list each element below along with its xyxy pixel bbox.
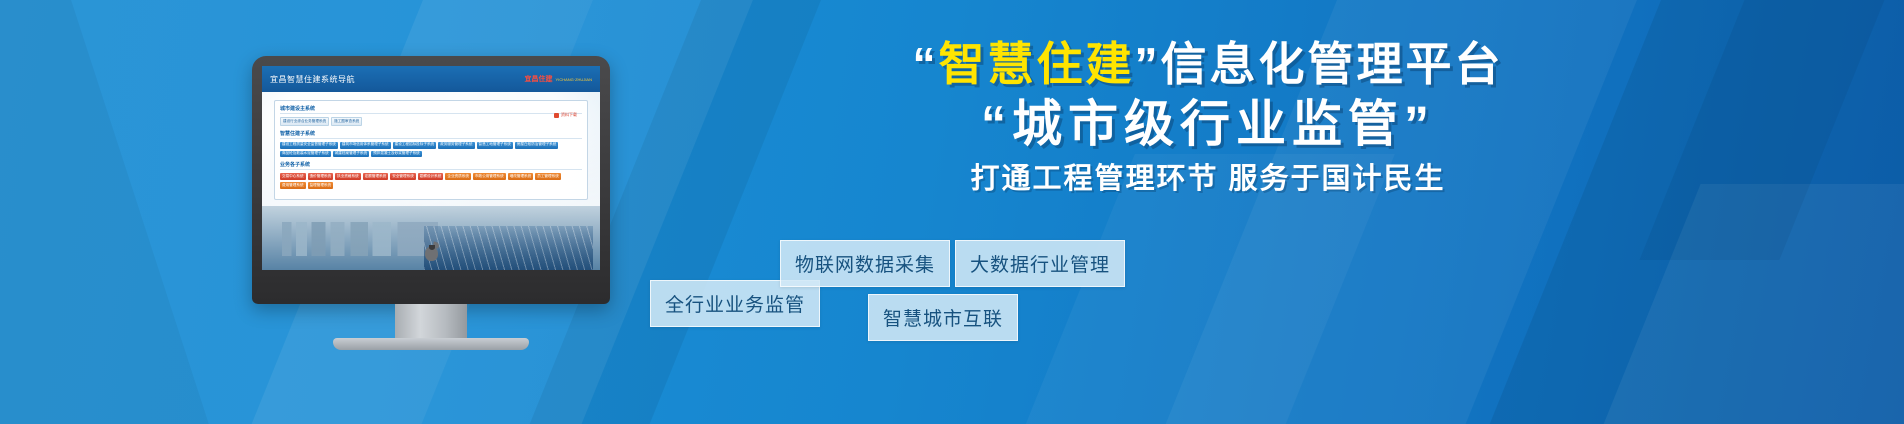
dashboard-header: 宜昌智慧住建系统导航 宜昌住建 YICHANG·ZHUJIAN (262, 66, 600, 92)
headline-line-1-prefix: “ (913, 38, 939, 90)
headline-block: “智慧住建”信息化管理平台 “城市级行业监管” 打通工程管理环节 服务于国计民生 (648, 40, 1768, 196)
headline-line-1: “智慧住建”信息化管理平台 (648, 40, 1768, 90)
section-button-row: 交易中心系统 造价管理系统 执业资格系统 定额管理系统 安全管理系统 勘察设计系… (280, 173, 582, 189)
nav-button[interactable]: 城建档案管理子系统 (333, 151, 369, 158)
logo-main-text: 宜昌住建 (525, 74, 553, 84)
dashboard-title: 宜昌智慧住建系统导航 (270, 74, 355, 85)
nav-button[interactable]: 预拌混凝土及砂浆管理子系统 (371, 151, 422, 158)
download-label: 资料下载 (561, 112, 577, 118)
nav-button[interactable]: 员工管理系统 (535, 173, 561, 180)
section-title: 业务各子系统 (280, 161, 582, 170)
nav-button[interactable]: 房屋白蚁防治管理子系统 (515, 142, 559, 149)
apple-logo-icon (425, 246, 438, 261)
nav-button[interactable]: 市政公用管理系统 (473, 173, 506, 180)
imac-bezel: 宜昌智慧住建系统导航 宜昌住建 YICHANG·ZHUJIAN 资料下载 (252, 56, 610, 304)
section-city-construction: 城市建设主系统 建设行业综合业务管理系统 施工图审查系统 (280, 105, 582, 126)
logo-sub-text: YICHANG·ZHUJIAN (556, 77, 592, 82)
download-link[interactable]: 资料下载 (554, 112, 577, 118)
nav-button[interactable]: 建设行业综合业务管理系统 (280, 117, 329, 126)
imac-stand-foot (333, 338, 529, 350)
feature-tag-wulianwang[interactable]: 物联网数据采集 (780, 240, 950, 287)
imac-mockup: 宜昌智慧住建系统导航 宜昌住建 YICHANG·ZHUJIAN 资料下载 (252, 56, 610, 304)
imac-chin (262, 236, 600, 270)
nav-button[interactable]: 执业资格系统 (335, 173, 361, 180)
headline-line-1-highlight: 智慧住建 (939, 38, 1135, 90)
nav-button[interactable]: 商品砼及散装水泥管理子系统 (280, 151, 331, 158)
download-icon (554, 113, 559, 118)
navigation-panel: 资料下载 城市建设主系统 建设行业综合业务管理系统 施工图审查系统 智慧住建子系… (274, 100, 588, 200)
section-button-row: 建设行业综合业务管理系统 施工图审查系统 (280, 117, 582, 126)
nav-button[interactable]: 建设工程招标投标子系统 (393, 142, 437, 149)
nav-button[interactable]: 建设工程质量安全监督管理子系统 (280, 142, 338, 149)
promo-banner: 宜昌智慧住建系统导航 宜昌住建 YICHANG·ZHUJIAN 资料下载 (0, 0, 1904, 424)
background-facet-7 (0, 0, 209, 424)
nav-button[interactable]: 交易中心系统 (280, 173, 306, 180)
section-button-row: 建设工程质量安全监督管理子系统 建筑市场信用体系管理子系统 建设工程招标投标子系… (280, 142, 582, 158)
headline-line-2: “城市级行业监管” (648, 96, 1768, 152)
feature-tag-dashuju[interactable]: 大数据行业管理 (955, 240, 1125, 287)
nav-button[interactable]: 安全管理系统 (390, 173, 416, 180)
headline-line-3: 打通工程管理环节 服务于国计民生 (648, 162, 1768, 197)
feature-tag-quan-hangye[interactable]: 全行业业务监管 (650, 280, 820, 327)
nav-button[interactable]: 智慧工地管理子系统 (477, 142, 513, 149)
imac-stand-neck (395, 304, 467, 338)
nav-button[interactable]: 费用管理系统 (280, 182, 306, 189)
imac-screen: 宜昌智慧住建系统导航 宜昌住建 YICHANG·ZHUJIAN 资料下载 (262, 66, 600, 270)
nav-button[interactable]: 勘察设计系统 (418, 173, 444, 180)
section-title: 城市建设主系统 (280, 105, 582, 114)
nav-button[interactable]: 造价管理系统 (308, 173, 334, 180)
background-facet-8 (1579, 184, 1904, 424)
nav-button[interactable]: 监理管理系统 (308, 182, 334, 189)
nav-button[interactable]: 施工图审查系统 (331, 117, 362, 126)
nav-button[interactable]: 企业资质系统 (445, 173, 471, 180)
nav-button[interactable]: 定额管理系统 (363, 173, 389, 180)
nav-button[interactable]: 墙改管理系统 (508, 173, 534, 180)
section-business-systems: 业务各子系统 交易中心系统 造价管理系统 执业资格系统 定额管理系统 安全管理系… (280, 161, 582, 189)
section-smart-construction: 智慧住建子系统 建设工程质量安全监督管理子系统 建筑市场信用体系管理子系统 建设… (280, 130, 582, 158)
section-title: 智慧住建子系统 (280, 130, 582, 139)
dashboard-logo: 宜昌住建 YICHANG·ZHUJIAN (525, 74, 592, 84)
feature-tag-zhihui-chengshi[interactable]: 智慧城市互联 (868, 294, 1018, 341)
nav-button[interactable]: 政务服务管理子系统 (438, 142, 474, 149)
headline-line-1-suffix: ”信息化管理平台 (1135, 38, 1504, 90)
nav-button[interactable]: 建筑市场信用体系管理子系统 (340, 142, 391, 149)
